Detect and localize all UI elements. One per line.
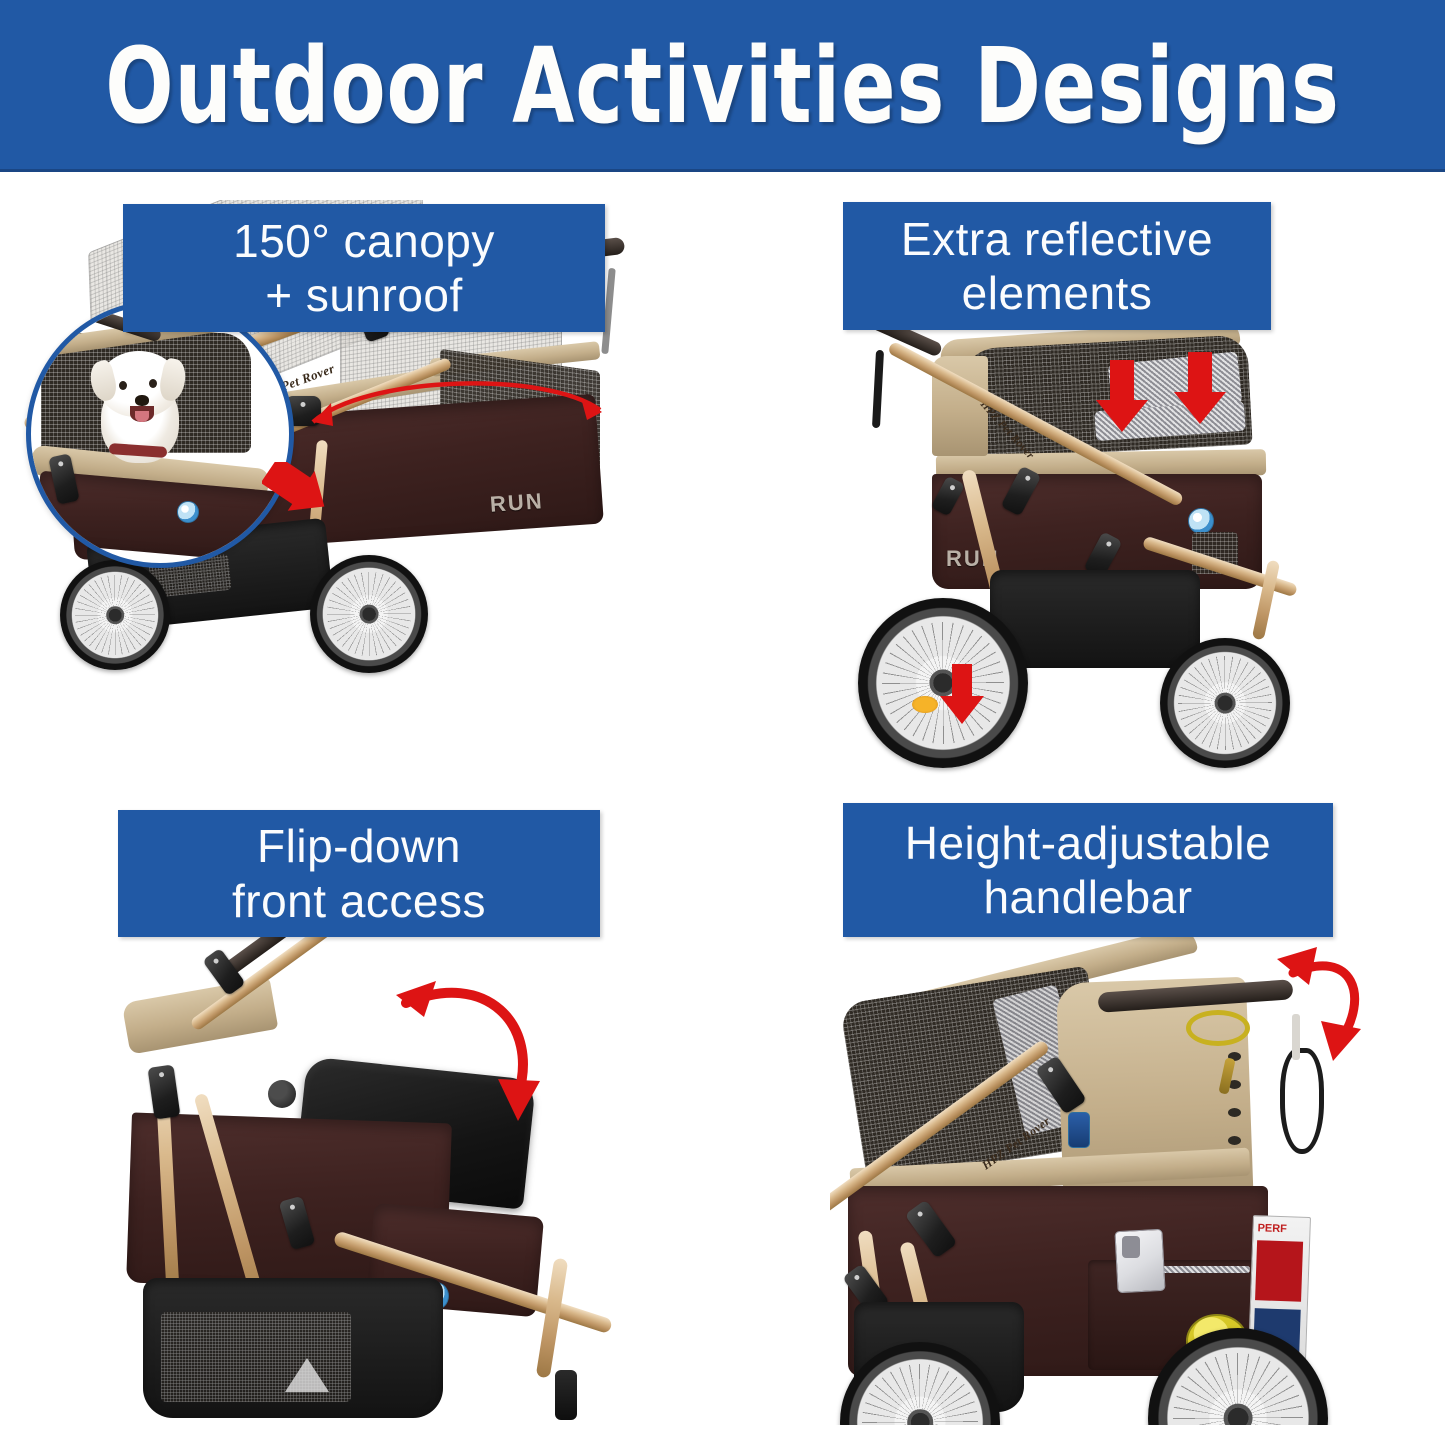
label-flipdown-line1: Flip-down xyxy=(257,819,461,873)
label-reflective-line2: elements xyxy=(962,266,1153,320)
adjust-hole xyxy=(1228,1108,1241,1117)
basket-reflective-triangle xyxy=(285,1358,329,1392)
magazine-title: PERF xyxy=(1257,1222,1287,1235)
coiled-cord xyxy=(1186,1010,1250,1046)
wheel-hub xyxy=(907,1409,933,1425)
label-flipdown-line2: front access xyxy=(232,874,486,928)
adjust-hole xyxy=(1228,1136,1241,1145)
model-badge-run: RUN xyxy=(489,488,544,518)
wheel-hub xyxy=(1224,1404,1253,1425)
label-reflective-line1: Extra reflective xyxy=(901,212,1213,266)
arrow-reflective-left xyxy=(1092,360,1152,434)
label-reflective: Extra reflective elements xyxy=(843,202,1271,330)
label-flipdown: Flip-down front access xyxy=(118,810,600,937)
wheel-hub xyxy=(360,605,379,624)
label-handlebar: Height-adjustable handlebar xyxy=(843,803,1333,937)
inset-photo xyxy=(31,305,289,563)
dog-eye-left xyxy=(119,381,127,390)
wheel-hub xyxy=(1215,693,1236,714)
arrow-canopy-rotation xyxy=(295,370,625,450)
arrow-wheel-reflector xyxy=(938,664,990,726)
swivel-knob xyxy=(268,1080,296,1108)
dog-nose xyxy=(135,395,149,406)
label-handlebar-line1: Height-adjustable xyxy=(905,816,1272,870)
inset-logo-badge xyxy=(177,501,199,523)
logo-badge xyxy=(1068,1112,1090,1148)
arrow-canopy-point xyxy=(262,462,334,524)
dog-eye-right xyxy=(149,379,157,388)
label-canopy-line2: + sunroof xyxy=(265,268,463,322)
dog-in-stroller-inset xyxy=(26,300,294,568)
frame-joint-mid xyxy=(148,1064,181,1119)
header-banner: Outdoor Activities Designs xyxy=(0,0,1445,172)
wrist-strap xyxy=(872,350,884,428)
wheel-hub xyxy=(106,606,124,624)
arrow-reflective-right xyxy=(1170,352,1230,426)
magazine-block xyxy=(1255,1240,1303,1302)
label-handlebar-line2: handlebar xyxy=(983,870,1192,924)
logo-badge xyxy=(1188,508,1214,534)
arrow-handlebar-adjust xyxy=(1265,935,1383,1070)
phone-camera-cluster xyxy=(1122,1236,1140,1258)
arrow-flipdown-motion xyxy=(390,975,550,1130)
wheel-reflector xyxy=(912,696,938,713)
page-title: Outdoor Activities Designs xyxy=(101,0,1344,172)
wheel-rear xyxy=(310,555,428,673)
wheel-front-small xyxy=(1160,638,1290,768)
front-wheel-stem xyxy=(555,1370,577,1420)
dog-tongue xyxy=(135,411,149,422)
wheel-front xyxy=(60,560,170,670)
infographic-page: Outdoor Activities Designs RUN HPZ Pet R… xyxy=(0,0,1445,1445)
label-canopy: 150° canopy + sunroof xyxy=(123,204,605,332)
label-canopy-line1: 150° canopy xyxy=(233,214,495,268)
